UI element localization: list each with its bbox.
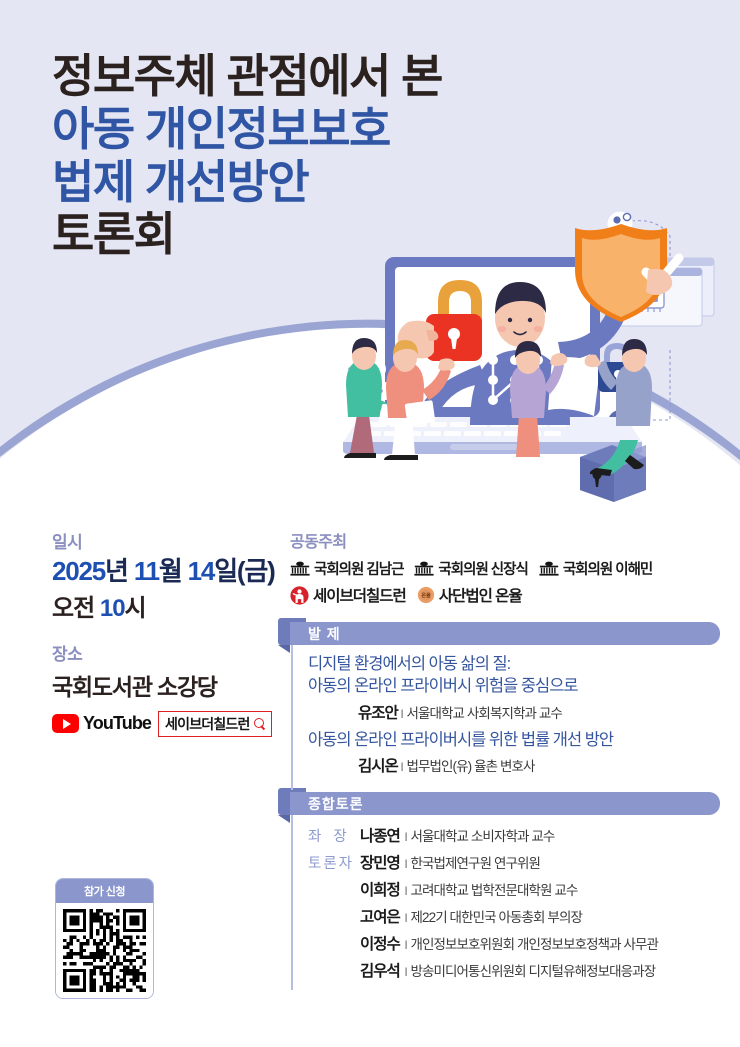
poster-title: 정보주체 관점에서 본 아동 개인정보보호 법제 개선방안 토론회 xyxy=(52,52,442,259)
cohosts-row-assembly: 국회의원 김남근 국회의원 신장식 xyxy=(290,558,720,579)
presentation-item-2: 아동의 온라인 프라이버시를 위한 법률 개선 방안 김시온l법무법인(유) 율… xyxy=(308,730,720,777)
cohosts-row-orgs: 세이브더칠드런 온율 사단법인 온율 xyxy=(290,584,720,606)
discussant-name: 장민영 xyxy=(360,855,400,872)
speaker-name: 김시온 xyxy=(358,758,398,775)
cohost-shinjangsik: 국회의원 신장식 xyxy=(414,558,527,579)
date-day: 14 xyxy=(188,556,215,586)
cohost-savethechildren: 세이브더칠드런 xyxy=(290,584,406,606)
speaker-name: 유조안 xyxy=(358,705,398,722)
event-info-column: 일시 2025년 11월 14일(금) 오전 10시 장소 국회도서관 소강당 … xyxy=(52,528,292,737)
panel-body: 좌 장 나종연l서울대학교 소비자학과 교수 토론자 장민영l한국법제연구원 연… xyxy=(290,815,720,981)
presentation-topic: 디지털 환경에서의 아동 삶의 질: 아동의 온라인 프라이버시 위험을 중심으… xyxy=(308,654,720,698)
assembly-building-icon xyxy=(290,561,310,576)
date-year-suffix: 년 xyxy=(105,556,128,586)
panel-discussant-row: 이희정l고려대학교 법학전문대학원 교수 xyxy=(308,878,720,900)
qr-code[interactable] xyxy=(63,909,146,992)
cohost-name: 국회의원 신장식 xyxy=(438,558,527,579)
discussant-affiliation: 개인정보보호위원회 개인정보보호정책과 사무관 xyxy=(410,937,658,952)
ribbon-fold xyxy=(278,815,290,823)
venue-block: 장소 국회도서관 소강당 xyxy=(52,640,292,702)
discussant-name: 고여은 xyxy=(360,909,400,926)
datetime-label: 일시 xyxy=(52,528,292,553)
venue-label: 장소 xyxy=(52,640,292,665)
chair-name: 나종연 xyxy=(360,828,400,845)
title-line-3: 법제 개선방안 xyxy=(52,158,442,207)
discussant-affiliation: 한국법제연구원 연구위원 xyxy=(410,856,540,871)
poster-root: 정보주체 관점에서 본 아동 개인정보보호 법제 개선방안 토론회 일시 202… xyxy=(0,0,740,1047)
youtube-play-icon xyxy=(52,714,79,733)
panel-vertical-rule xyxy=(291,815,293,990)
cohost-name: 세이브더칠드런 xyxy=(313,584,406,606)
time-number: 10 xyxy=(100,595,125,622)
presentation-topic: 아동의 온라인 프라이버시를 위한 법률 개선 방안 xyxy=(308,730,720,752)
magnifier-icon xyxy=(254,718,266,730)
discussant-affiliation: 고려대학교 법학전문대학원 교수 xyxy=(410,883,577,898)
registration-qr-card[interactable]: 참가 신청 xyxy=(55,878,154,999)
title-line-1: 정보주체 관점에서 본 xyxy=(52,52,442,101)
date-day-suffix: 일(금) xyxy=(214,556,274,586)
ribbon-fold xyxy=(278,645,290,653)
discussant-name: 김우석 xyxy=(360,963,400,980)
speaker-affiliation: 서울대학교 사회복지학과 교수 xyxy=(406,706,561,721)
separator: l xyxy=(401,707,404,721)
event-time: 오전 10시 xyxy=(52,588,292,623)
cohost-name: 사단법인 온율 xyxy=(439,584,522,606)
chair-affiliation: 서울대학교 소비자학과 교수 xyxy=(410,829,554,844)
cohost-name: 국회의원 이해민 xyxy=(563,558,652,579)
speaker-affiliation: 법무법인(유) 율촌 변호사 xyxy=(406,759,534,774)
cohost-leehaemin: 국회의원 이해민 xyxy=(539,558,652,579)
panel-chair-row: 좌 장 나종연l서울대학교 소비자학과 교수 xyxy=(308,824,720,846)
registration-label: 참가 신청 xyxy=(56,879,153,903)
discussant-affiliation: 방송미디어통신위원회 디지털유해정보대응과장 xyxy=(410,964,655,979)
svg-text:온율: 온율 xyxy=(421,591,431,599)
presentation-topic-line2: 아동의 온라인 프라이버시 위험을 중심으로 xyxy=(308,676,720,698)
panel-discussant-row: 고여은l제22기 대한민국 아동총회 부의장 xyxy=(308,905,720,927)
panel-discussant-row: 토론자 장민영l한국법제연구원 연구위원 xyxy=(308,851,720,873)
panel-discussant-row: 김우석l방송미디어통신위원회 디지털유해정보대응과장 xyxy=(308,959,720,981)
panel-heading-bar: 종합토론 xyxy=(290,792,720,815)
panel-heading: 종합토론 xyxy=(308,794,364,814)
program-column: 공동주최 국회의원 김남근 xyxy=(290,528,720,986)
discussant-name: 이정수 xyxy=(360,936,400,953)
presentation-vertical-rule xyxy=(291,645,293,790)
panel-section: 종합토론 좌 장 나종연l서울대학교 소비자학과 교수 토론자 장민영l한국법제… xyxy=(290,792,720,981)
chair-label: 좌 장 xyxy=(308,825,360,846)
cohost-onyul: 온율 사단법인 온율 xyxy=(417,584,522,606)
presentation-body: 디지털 환경에서의 아동 삶의 질: 아동의 온라인 프라이버시 위험을 중심으… xyxy=(290,645,720,776)
separator: l xyxy=(405,965,408,979)
separator: l xyxy=(401,760,404,774)
cohost-name: 국회의원 김남근 xyxy=(314,558,403,579)
save-the-children-logo xyxy=(290,586,309,605)
presentation-heading-bar: 발 제 xyxy=(290,622,720,645)
presentation-topic-line1: 디지털 환경에서의 아동 삶의 질: xyxy=(308,654,720,676)
youtube-row[interactable]: YouTube 세이브더칠드런 xyxy=(52,711,292,737)
qr-body xyxy=(56,903,153,998)
youtube-search-text: 세이브더칠드런 xyxy=(165,714,250,734)
assembly-building-icon xyxy=(539,561,559,576)
presentation-section: 발 제 디지털 환경에서의 아동 삶의 질: 아동의 온라인 프라이버시 위험을… xyxy=(290,622,720,776)
presentation-heading: 발 제 xyxy=(308,624,341,644)
onyul-logo: 온율 xyxy=(417,586,435,604)
separator: l xyxy=(405,938,408,952)
presentation-topic-line1: 아동의 온라인 프라이버시를 위한 법률 개선 방안 xyxy=(308,730,720,752)
ribbon-tab xyxy=(278,618,306,645)
separator: l xyxy=(405,884,408,898)
discussants-label: 토론자 xyxy=(308,852,360,873)
event-date: 2025년 11월 14일(금) xyxy=(52,556,292,587)
time-prefix: 오전 xyxy=(52,595,94,622)
presentation-speaker-row: 김시온l법무법인(유) 율촌 변호사 xyxy=(308,754,720,776)
title-line-4: 토론회 xyxy=(52,210,442,259)
youtube-brand: YouTube xyxy=(83,713,151,734)
venue-name: 국회도서관 소강당 xyxy=(52,668,292,702)
time-suffix: 시 xyxy=(125,595,146,622)
assembly-building-icon xyxy=(414,561,434,576)
youtube-search-box[interactable]: 세이브더칠드런 xyxy=(158,711,272,737)
presentation-item-1: 디지털 환경에서의 아동 삶의 질: 아동의 온라인 프라이버시 위험을 중심으… xyxy=(308,654,720,723)
date-year: 2025 xyxy=(52,556,105,586)
panel-discussant-row: 이정수l개인정보보호위원회 개인정보보호정책과 사무관 xyxy=(308,932,720,954)
discussant-affiliation: 제22기 대한민국 아동총회 부의장 xyxy=(410,910,582,925)
cohosts-label: 공동주최 xyxy=(290,528,720,552)
discussant-name: 이희정 xyxy=(360,882,400,899)
title-line-2: 아동 개인정보보호 xyxy=(52,105,442,154)
separator: l xyxy=(405,857,408,871)
ribbon-tab xyxy=(278,788,306,815)
separator: l xyxy=(405,911,408,925)
cohost-kimnamgeun: 국회의원 김남근 xyxy=(290,558,403,579)
youtube-logo[interactable]: YouTube xyxy=(52,713,151,734)
date-month: 11 xyxy=(134,556,159,586)
date-month-suffix: 월 xyxy=(159,556,182,586)
separator: l xyxy=(405,830,408,844)
presentation-speaker-row: 유조안l서울대학교 사회복지학과 교수 xyxy=(308,701,720,723)
